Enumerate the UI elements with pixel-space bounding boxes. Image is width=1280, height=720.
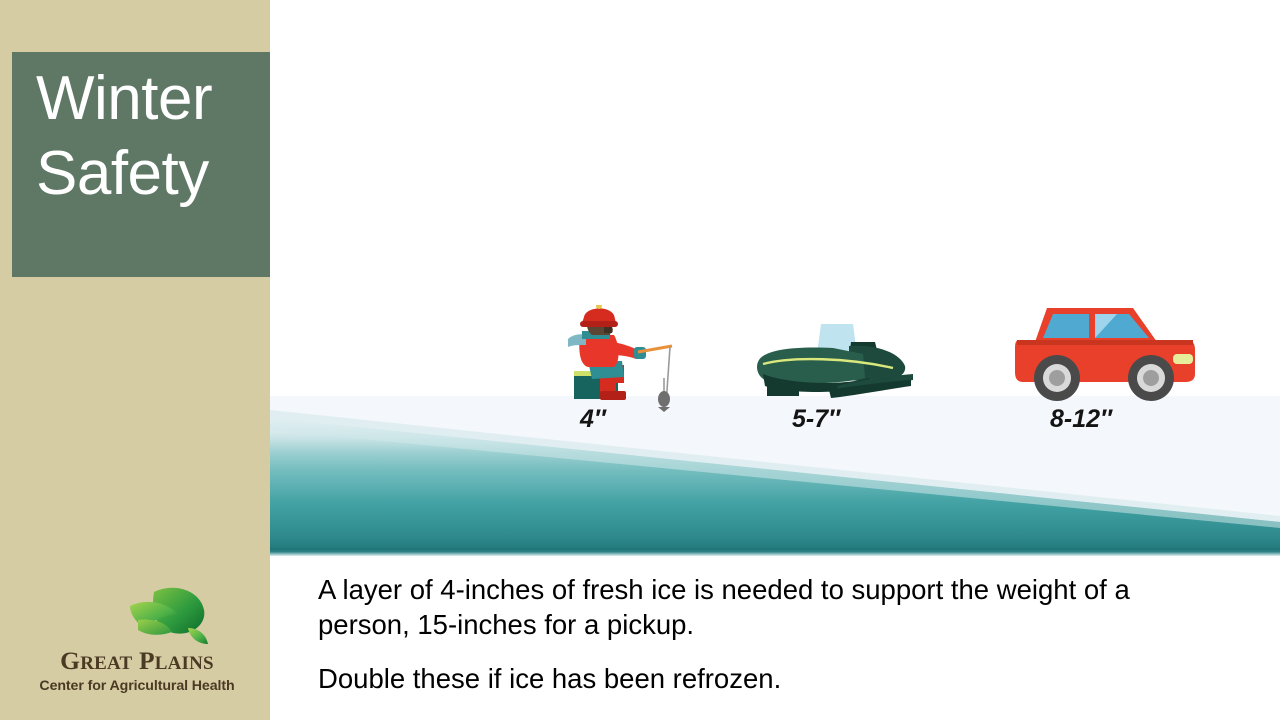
logo-word-plains-cap: P — [139, 646, 155, 675]
thickness-label-car: 8-12″ — [1050, 405, 1112, 434]
slide-canvas: Winter Safety Measure ice thickness befo… — [0, 0, 1280, 720]
logo-word-plains-rest: LAINS — [155, 653, 214, 674]
slide-title-line-1: Winter — [36, 66, 288, 131]
snowmobile-icon — [753, 320, 918, 405]
logo-tagline: Center for Agricultural Health — [28, 678, 246, 694]
logo-word-great-cap: G — [60, 646, 80, 675]
great-plains-leaf-icon — [108, 586, 218, 648]
thickness-label-person: 4″ — [580, 405, 606, 434]
slide-title-line-2: Safety — [36, 141, 288, 206]
slide-title-box: Winter Safety — [12, 52, 310, 277]
ice-thickness-illustration: 4″ 5-7″ 8-12″ 12-15″ — [270, 0, 1280, 556]
body-paragraph-2: Double these if ice has been refrozen. — [318, 661, 1198, 696]
logo-wordmark: GREAT PLAINS — [28, 646, 246, 676]
pickup-truck-icon — [1275, 300, 1280, 405]
body-paragraph-1: A layer of 4-inches of fresh ice is need… — [318, 572, 1198, 642]
thickness-label-snowmobile: 5-7″ — [792, 405, 840, 434]
great-plains-logo: GREAT PLAINS Center for Agricultural Hea… — [28, 586, 246, 704]
body-copy: A layer of 4-inches of fresh ice is need… — [318, 572, 1198, 697]
scene-baseline — [270, 548, 1280, 556]
logo-word-great-rest: REAT — [80, 653, 132, 674]
car-icon — [1005, 300, 1205, 405]
fishing-lure-icon — [652, 378, 676, 412]
water-wedge — [270, 396, 1280, 556]
